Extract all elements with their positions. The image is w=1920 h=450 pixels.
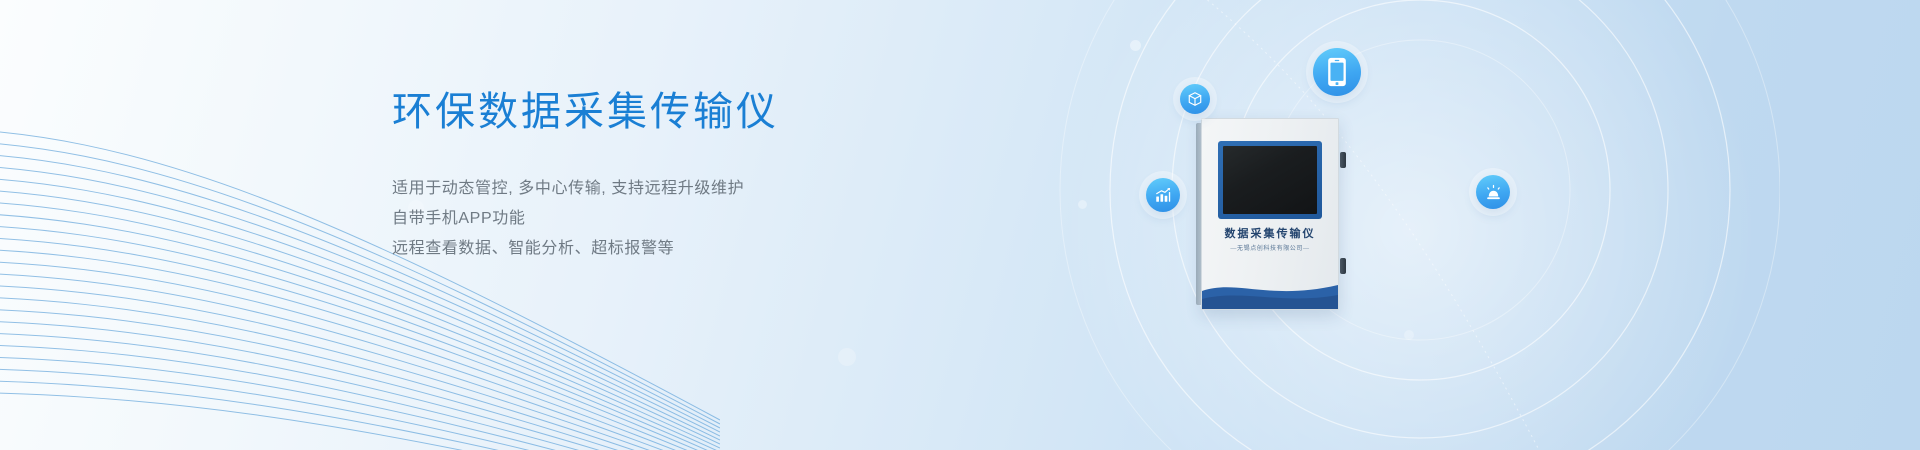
device-connector-top [1340,152,1346,168]
background-glow [1050,0,1770,450]
bokeh-dot [838,348,856,366]
chart-icon[interactable] [1146,178,1180,212]
alarm-icon[interactable] [1476,175,1510,209]
device-screen [1223,146,1317,214]
device-bottom-wave [1202,275,1338,309]
banner-subtitle-line: 远程查看数据、智能分析、超标报警等 [392,234,912,264]
bokeh-dot [1078,200,1087,209]
device-company-label: —无锡点创科技有限公司— [1202,243,1338,252]
device-screen-bezel [1218,141,1322,219]
banner-subtitle-list: 适用于动态管控, 多中心传输, 支持远程升级维护 自带手机APP功能 远程查看数… [392,174,912,264]
cube-icon[interactable] [1180,84,1210,114]
product-device-image: 数据采集传输仪 —无锡点创科技有限公司— [1196,118,1342,308]
bokeh-dot [1130,40,1141,51]
phone-icon[interactable] [1313,48,1361,96]
banner-subtitle-line: 适用于动态管控, 多中心传输, 支持远程升级维护 [392,174,912,204]
product-hero-banner: 环保数据采集传输仪 适用于动态管控, 多中心传输, 支持远程升级维护 自带手机A… [0,0,1920,450]
decorative-arc-rings [1020,0,1780,450]
banner-title: 环保数据采集传输仪 [392,92,912,132]
banner-subtitle-line: 自带手机APP功能 [392,204,912,234]
bokeh-dot [1404,330,1414,340]
device-front-panel: 数据采集传输仪 —无锡点创科技有限公司— [1201,118,1339,310]
device-connector-bottom [1340,258,1346,274]
device-label: 数据采集传输仪 [1202,225,1338,241]
banner-copy: 环保数据采集传输仪 适用于动态管控, 多中心传输, 支持远程升级维护 自带手机A… [392,92,912,264]
